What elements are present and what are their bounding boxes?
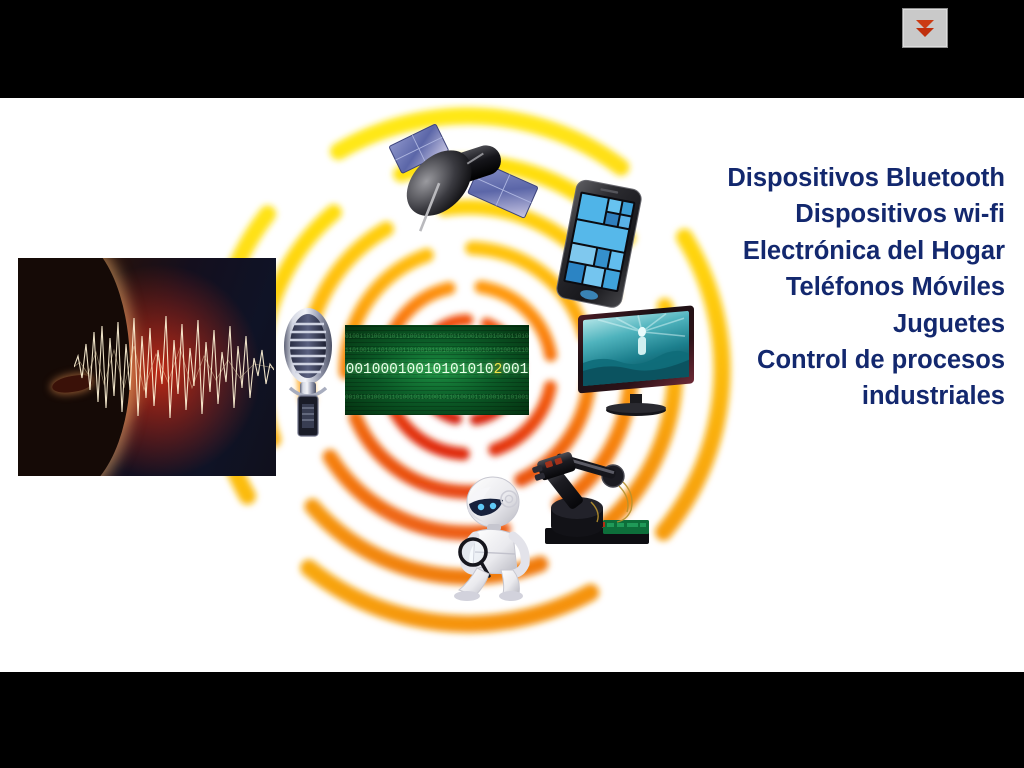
slide-root: 0100110100101011010010110100101101001011… xyxy=(0,0,1024,768)
waveform-curve xyxy=(74,292,274,442)
scroll-down-button[interactable] xyxy=(902,8,948,48)
binary-faint-row: 1101001011010010110100101101001011010010… xyxy=(345,347,529,354)
voice-waveform-image xyxy=(18,258,276,476)
binary-faint-row: 0010110100101101001011010010110100101101… xyxy=(345,394,529,401)
binary-faint-row: 0100110100101011010010110100101101001011… xyxy=(345,333,529,340)
double-chevron-down-icon xyxy=(916,20,934,36)
caption-line-control: Control de procesos xyxy=(575,342,1005,378)
caption-line-wifi: Dispositivos wi-fi xyxy=(575,196,1005,232)
caption-line-juguetes: Juguetes xyxy=(575,306,1005,342)
caption-line-telefonos: Teléfonos Móviles xyxy=(575,269,1005,305)
chevron-down-icon xyxy=(916,28,934,37)
caption-line-industriales: industriales xyxy=(575,378,1005,414)
microphone-image xyxy=(276,300,340,444)
binary-digit-highlight: 2 xyxy=(494,362,503,378)
letterbox-top-bar xyxy=(0,0,1024,98)
binary-digits-before: 0100100010010101010 xyxy=(345,362,494,378)
binary-digits-after: 00100 xyxy=(502,362,529,378)
caption-line-electronica: Electrónica del Hogar xyxy=(575,233,1005,269)
caption-list: Dispositivos Bluetooth Dispositivos wi-f… xyxy=(575,160,1005,415)
caption-line-bluetooth: Dispositivos Bluetooth xyxy=(575,160,1005,196)
binary-digits: 0100100010010101010200100 xyxy=(345,362,529,378)
robotic-arm-image xyxy=(531,442,665,554)
letterbox-bottom-bar xyxy=(0,672,1024,768)
slide-canvas: 0100110100101011010010110100101101001011… xyxy=(0,98,1024,672)
satellite-image xyxy=(386,106,546,251)
binary-code-image: 0100110100101011010010110100101101001011… xyxy=(345,325,529,415)
